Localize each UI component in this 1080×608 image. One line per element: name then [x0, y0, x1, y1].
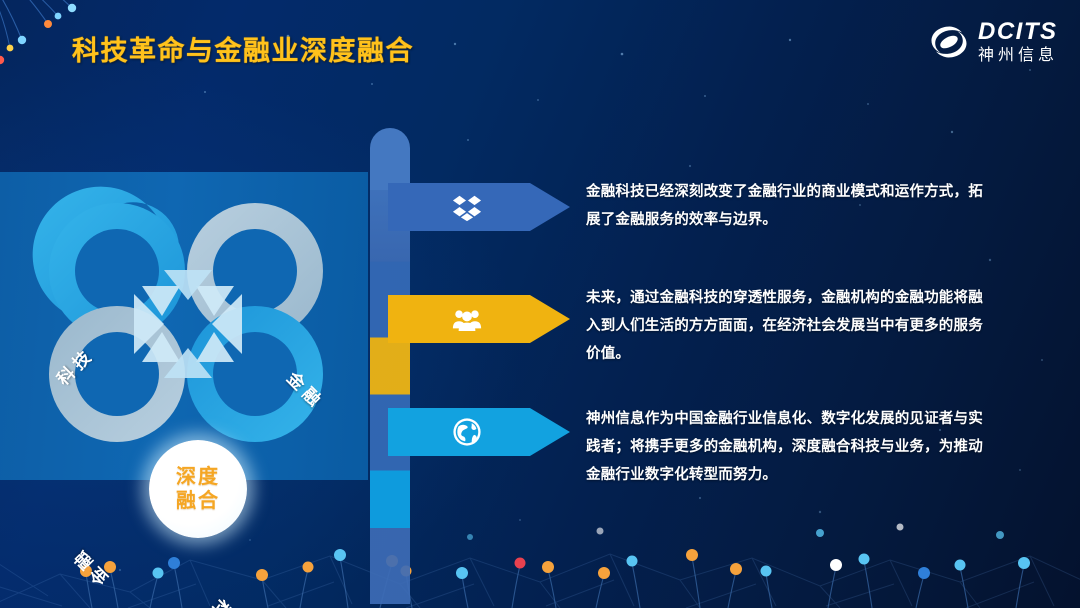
point-text-3: 神州信息作为中国金融行业信息化、数字化发展的见证者与实践者；将携手更多的金融机构…	[586, 406, 990, 489]
slide-header: 科技革命与金融业深度融合 DCITS 神州信息	[0, 0, 1080, 92]
brand-name-chinese: 神州信息	[978, 48, 1058, 64]
colored-dot-stems-decoration	[0, 513, 1080, 608]
deep-integration-flower-diagram: 科技 金融 金融 科技 深度 融合	[0, 172, 368, 480]
dropbox-boxes-icon	[450, 190, 484, 224]
page-title: 科技革命与金融业深度融合	[72, 29, 414, 68]
point-text-2: 未来，通过金融科技的穿透性服务，金融机构的金融功能将融入到人们生活的方方面面，在…	[586, 285, 990, 368]
point-chevron-3[interactable]	[388, 408, 570, 456]
diagram-center-badge: 深度 融合	[149, 440, 247, 538]
dcits-swirl-logo-icon	[929, 23, 969, 61]
brand-name-english: DCITS	[978, 20, 1058, 44]
presentation-slide: 科技革命与金融业深度融合 DCITS 神州信息	[0, 0, 1080, 608]
petal-label-bottom-left: 金融	[64, 543, 113, 592]
people-group-icon	[450, 302, 484, 336]
petal-label-bottom-right: 科技	[188, 594, 237, 608]
brand-logo-text: DCITS 神州信息	[978, 20, 1058, 64]
center-label-line1: 深度	[176, 466, 220, 488]
brand-logo: DCITS 神州信息	[929, 20, 1058, 64]
point-chevron-1[interactable]	[388, 183, 570, 231]
point-text-1: 金融科技已经深刻改变了金融行业的商业模式和运作方式，拓展了金融服务的效率与边界。	[586, 179, 990, 235]
center-label-line2: 融合	[176, 490, 220, 512]
globe-earth-icon	[450, 415, 484, 449]
flower-petals-graphic	[12, 166, 364, 482]
point-chevron-2[interactable]	[388, 295, 570, 343]
